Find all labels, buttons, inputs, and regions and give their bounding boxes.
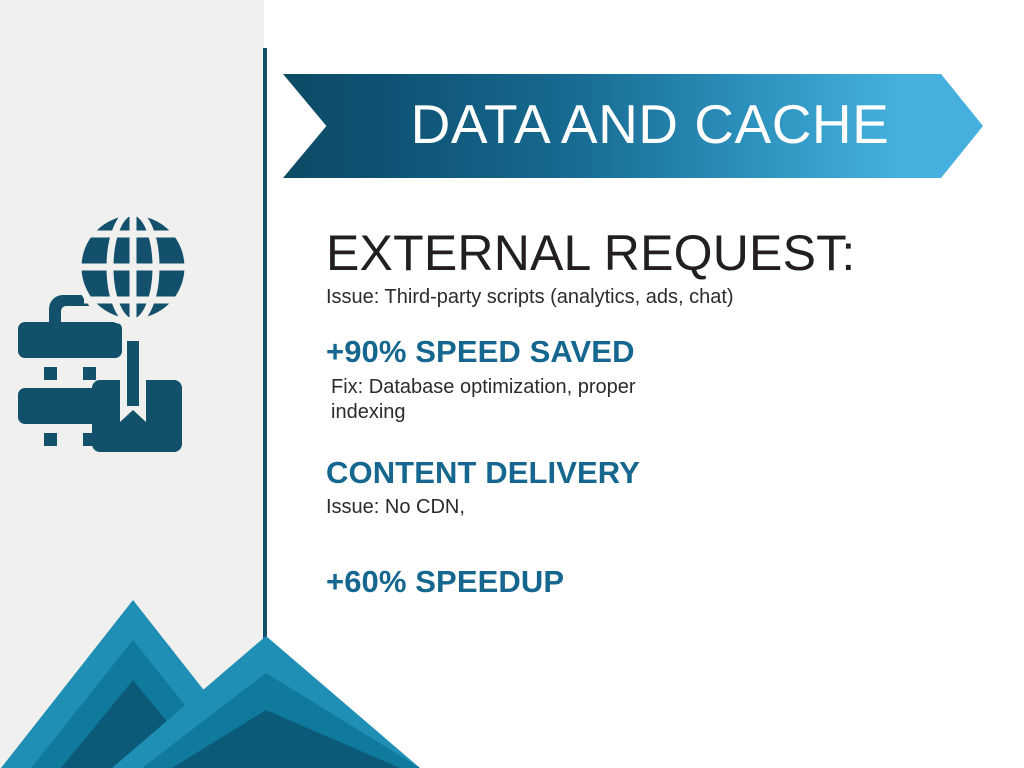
section-1-heading: EXTERNAL REQUEST: <box>326 228 966 279</box>
section-3-detail: Issue: No CDN, <box>326 495 966 520</box>
vertical-divider <box>263 48 267 640</box>
globe-grid-lines <box>78 212 188 322</box>
section-4-heading: +60% SPEEDUP <box>326 566 966 599</box>
section-2-detail: Fix: Database optimization, proper index… <box>331 375 711 425</box>
content-column: EXTERNAL REQUEST: Issue: Third-party scr… <box>326 228 966 599</box>
icon-group-svg <box>14 212 250 452</box>
icon-group <box>14 212 250 452</box>
connector-line <box>127 341 139 373</box>
section-2-heading: +90% SPEED SAVED <box>326 336 966 369</box>
slide-canvas: DATA AND CACHE EXTERNAL REQUEST: Issue: … <box>0 0 1024 768</box>
banner-title: DATA AND CACHE <box>377 97 890 156</box>
section-speed-saved: +90% SPEED SAVED Fix: Database optimizat… <box>326 336 966 425</box>
section-1-detail: Issue: Third-party scripts (analytics, a… <box>326 285 966 310</box>
package-seam <box>127 372 139 406</box>
banner-ribbon: DATA AND CACHE <box>283 74 983 178</box>
section-3-heading: CONTENT DELIVERY <box>326 457 966 490</box>
section-speedup: +60% SPEEDUP <box>326 566 966 599</box>
section-external-request: EXTERNAL REQUEST: Issue: Third-party scr… <box>326 228 966 310</box>
section-content-delivery: CONTENT DELIVERY Issue: No CDN, <box>326 457 966 521</box>
